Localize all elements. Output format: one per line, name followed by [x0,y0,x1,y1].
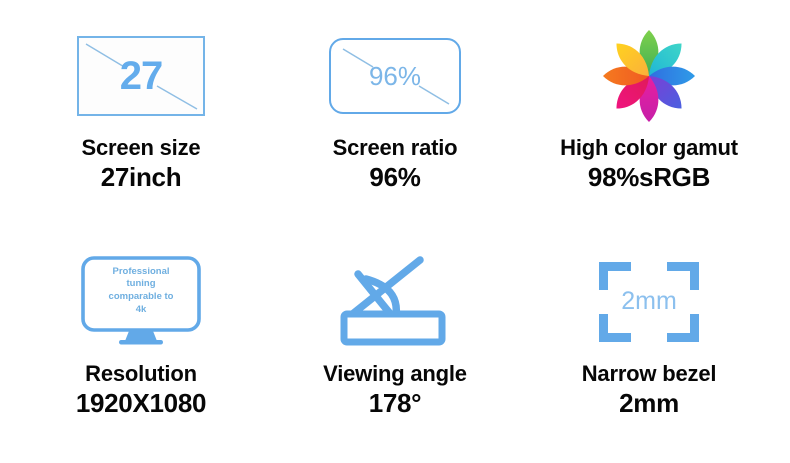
icon-box-screen-size: 27 [56,22,226,130]
spec-value-screen-size: 27inch [101,163,182,193]
spec-cell-screen-size: 27 Screen size 27inch [14,8,268,234]
spec-cell-screen-ratio: 96% Screen ratio 96% [268,8,522,234]
spec-value-resolution: 1920X1080 [76,389,206,419]
viewing-angle-icon [336,254,454,350]
spec-value-narrow-bezel: 2mm [619,389,679,419]
spec-grid: 27 Screen size 27inch 96% Screen ratio 9… [0,0,790,463]
icon-box-viewing-angle [310,248,480,356]
spec-label-screen-size: Screen size [82,136,201,160]
spec-label-screen-ratio: Screen ratio [333,136,458,160]
monitor-inner-line-1: Professional [89,266,193,279]
spec-label-viewing-angle: Viewing angle [323,362,467,386]
icon-box-high-color-gamut [564,22,734,130]
icon-box-narrow-bezel: 2mm [564,248,734,356]
monitor-inner-line-3: comparable to [89,291,193,304]
spec-value-screen-ratio: 96% [369,163,420,193]
spec-label-narrow-bezel: Narrow bezel [582,362,717,386]
spec-cell-resolution: Professional tuning comparable to 4k Res… [14,234,268,460]
spec-value-high-color-gamut: 98%sRGB [588,163,710,193]
spec-label-high-color-gamut: High color gamut [560,136,738,160]
spec-cell-viewing-angle: Viewing angle 178° [268,234,522,460]
monitor-icon: Professional tuning comparable to 4k [77,254,205,350]
monitor-inner-line-4: 4k [89,304,193,317]
screen-rectangle-icon: 27 [77,36,205,116]
bezel-icon-value: 2mm [621,289,677,314]
icon-box-screen-ratio: 96% [310,22,480,130]
spec-value-viewing-angle: 178° [369,389,422,419]
spec-label-resolution: Resolution [85,362,197,386]
rounded-screen-icon: 96% [329,38,461,114]
monitor-inner-text: Professional tuning comparable to 4k [77,266,205,317]
bezel-brackets-icon: 2mm [593,256,705,348]
spec-cell-high-color-gamut: High color gamut 98%sRGB [522,8,776,234]
spec-cell-narrow-bezel: 2mm Narrow bezel 2mm [522,234,776,460]
color-flower-icon [595,24,703,128]
icon-box-resolution: Professional tuning comparable to 4k [56,248,226,356]
screen-size-icon-value: 27 [120,56,163,96]
monitor-inner-line-2: tuning [89,278,193,291]
screen-ratio-icon-value: 96% [369,63,421,89]
